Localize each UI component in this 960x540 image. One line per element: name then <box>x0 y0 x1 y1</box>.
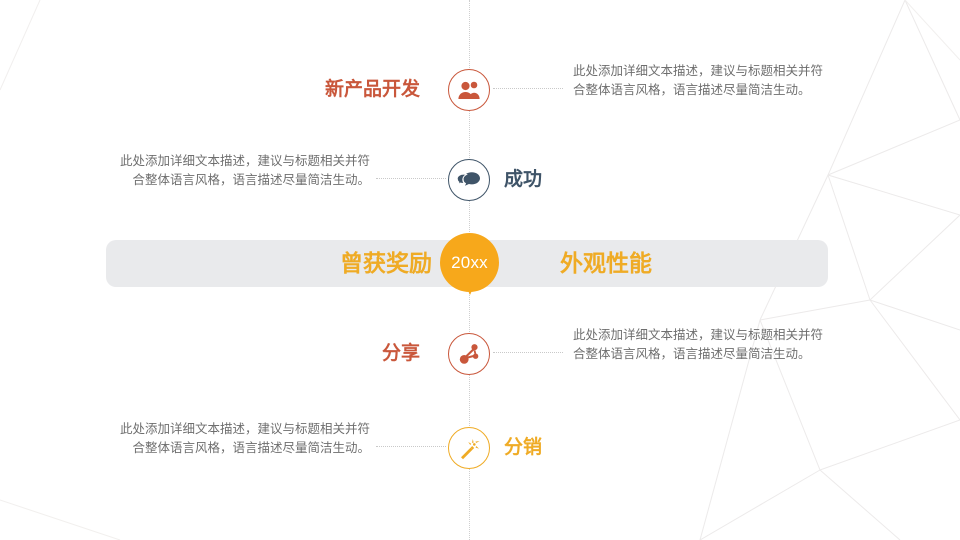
year-marker-label: 20xx <box>440 233 499 292</box>
magic-wand-icon <box>458 437 481 460</box>
description-line-2: 合整体语言风格，语言描述尽量简洁生动。 <box>98 171 370 190</box>
slide-canvas: 曾获奖励 外观性能 20xx 新产品开发 此处添加详细文本描述，建议与标题相关并… <box>0 0 960 540</box>
description-line-2: 合整体语言风格，语言描述尽量简洁生动。 <box>98 439 370 458</box>
node-icon-circle-new-product-development[interactable] <box>448 69 490 111</box>
chat-bubbles-icon <box>457 170 481 190</box>
node-title-new-product-development: 新产品开发 <box>235 69 420 111</box>
leader-line-new-product-development <box>493 88 563 89</box>
share-network-icon <box>458 343 480 365</box>
description-line-2: 合整体语言风格，语言描述尽量简洁生动。 <box>573 81 845 100</box>
banner-label-right: 外观性能 <box>560 240 840 287</box>
description-line-1: 此处添加详细文本描述，建议与标题相关并符 <box>573 326 845 345</box>
year-marker[interactable]: 20xx <box>440 233 499 292</box>
description-line-1: 此处添加详细文本描述，建议与标题相关并符 <box>98 152 370 171</box>
description-line-1: 此处添加详细文本描述，建议与标题相关并符 <box>98 420 370 439</box>
description-line-2: 合整体语言风格，语言描述尽量简洁生动。 <box>573 345 845 364</box>
node-icon-circle-distribution[interactable] <box>448 427 490 469</box>
node-title-success: 成功 <box>504 159 704 201</box>
description-distribution: 此处添加详细文本描述，建议与标题相关并符 合整体语言风格，语言描述尽量简洁生动。 <box>98 420 370 459</box>
leader-line-share <box>493 352 563 353</box>
description-new-product-development: 此处添加详细文本描述，建议与标题相关并符 合整体语言风格，语言描述尽量简洁生动。 <box>573 62 845 101</box>
description-line-1: 此处添加详细文本描述，建议与标题相关并符 <box>573 62 845 81</box>
node-title-distribution: 分销 <box>504 427 704 469</box>
leader-line-success <box>376 178 446 179</box>
node-icon-circle-share[interactable] <box>448 333 490 375</box>
description-share: 此处添加详细文本描述，建议与标题相关并符 合整体语言风格，语言描述尽量简洁生动。 <box>573 326 845 365</box>
node-icon-circle-success[interactable] <box>448 159 490 201</box>
description-success: 此处添加详细文本描述，建议与标题相关并符 合整体语言风格，语言描述尽量简洁生动。 <box>98 152 370 191</box>
banner-label-left: 曾获奖励 <box>302 240 432 287</box>
leader-line-distribution <box>376 446 446 447</box>
users-icon <box>457 80 481 100</box>
node-title-share: 分享 <box>240 333 420 375</box>
